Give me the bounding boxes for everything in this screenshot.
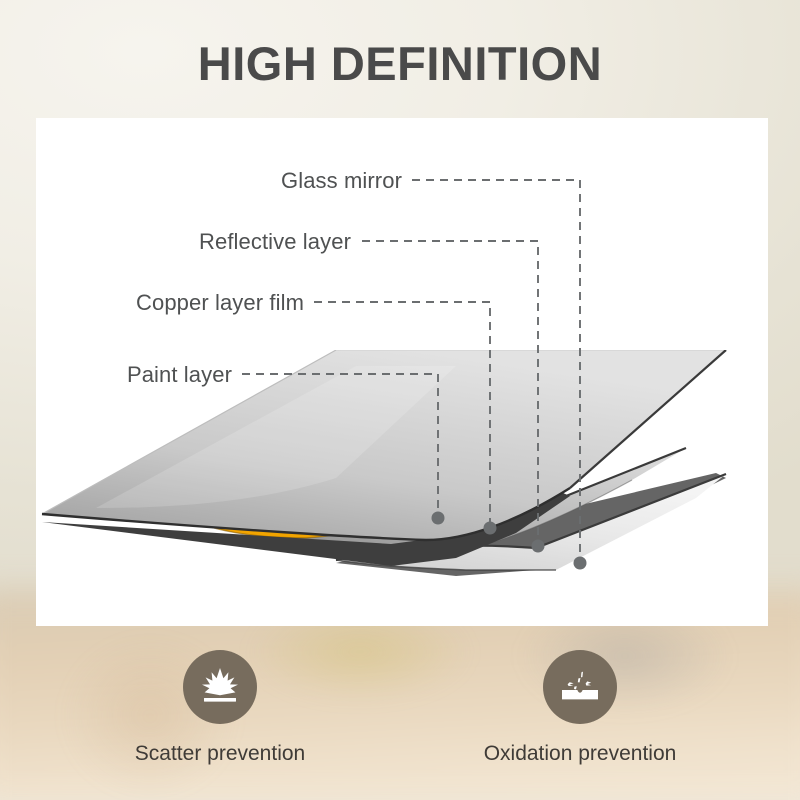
layer-label-reflective-layer: Reflective layer [161, 229, 351, 255]
leader-dot-copper-layer-film [484, 522, 497, 535]
leader-dot-paint-layer [432, 512, 445, 525]
feature-badge-oxidation-prevention [543, 650, 617, 724]
feature-list: Scatter prevention Oxidation pr [0, 650, 800, 766]
leader-line-reflective-layer [362, 241, 545, 553]
layer-label-glass-mirror: Glass mirror [252, 168, 402, 194]
leader-line-copper-layer-film [314, 302, 497, 535]
product-feature-graphic: HIGH DEFINITION [0, 0, 800, 800]
layer-label-copper-layer-film: Copper layer film [92, 290, 304, 316]
feature-label-scatter-prevention: Scatter prevention [135, 742, 305, 766]
feature-badge-scatter-prevention [183, 650, 257, 724]
surface-chip-icon [558, 665, 602, 709]
leader-dot-glass-mirror [574, 557, 587, 570]
feature-oxidation-prevention: Oxidation prevention [455, 650, 705, 766]
leader-line-paint-layer [242, 374, 445, 525]
feature-scatter-prevention: Scatter prevention [95, 650, 345, 766]
feature-label-oxidation-prevention: Oxidation prevention [484, 742, 677, 766]
leader-dot-reflective-layer [532, 540, 545, 553]
layer-label-paint-layer: Paint layer [96, 362, 232, 388]
shatter-burst-icon [198, 665, 242, 709]
